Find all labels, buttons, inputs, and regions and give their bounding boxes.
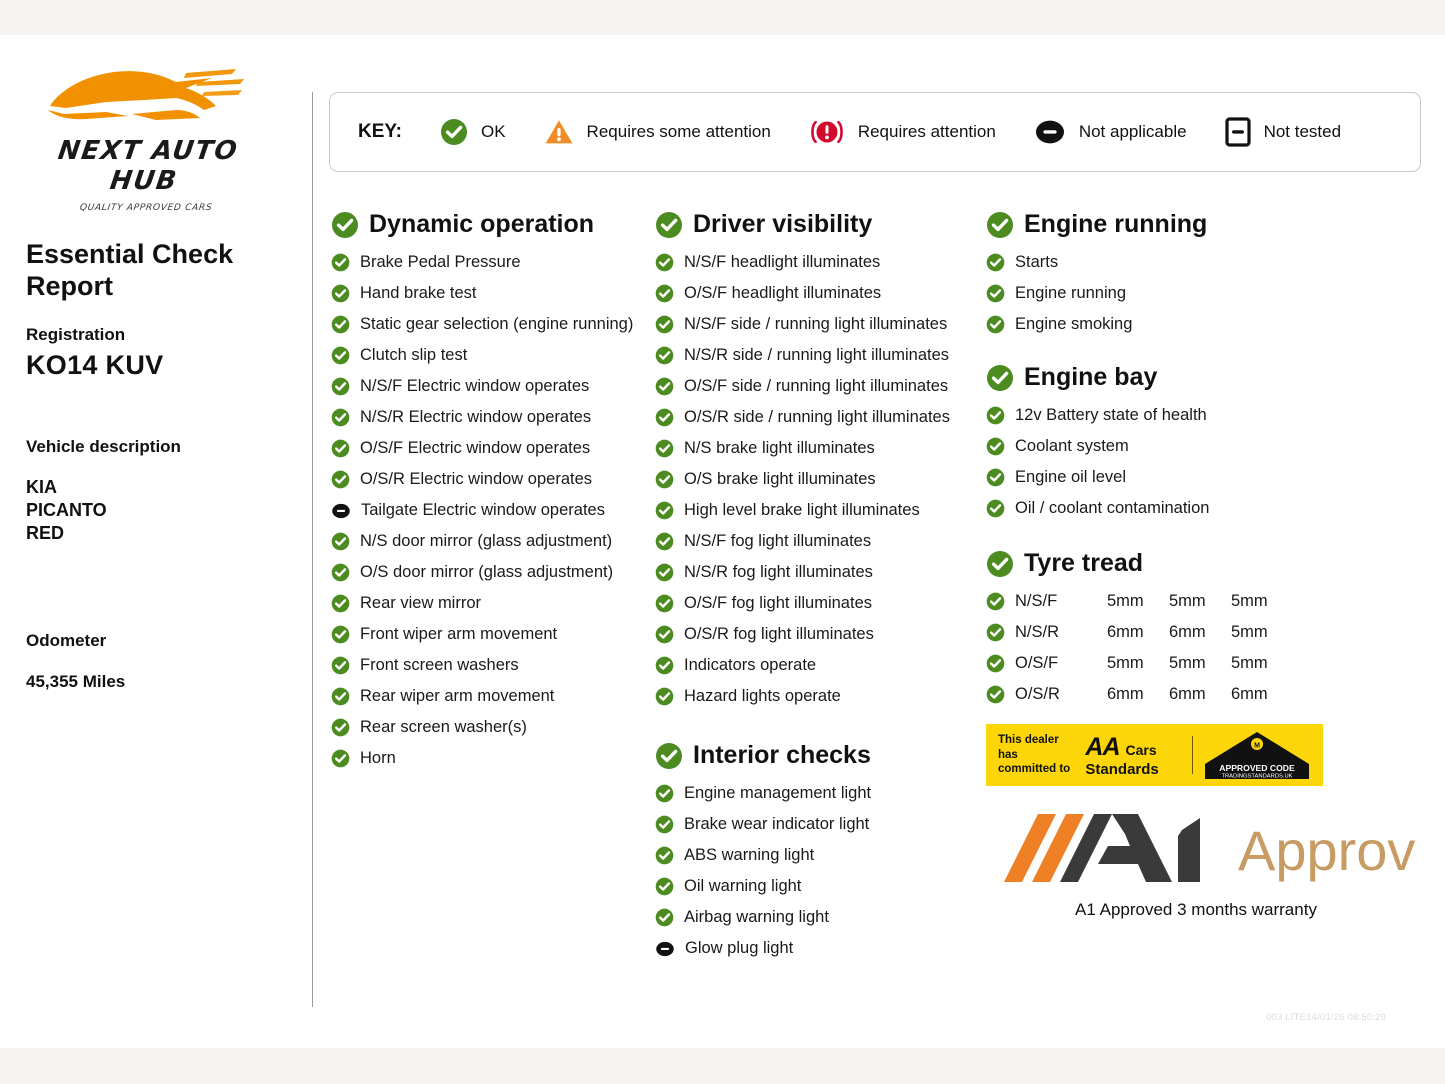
check-row: Indicators operate	[655, 650, 985, 681]
key-item-not-tested: Not tested	[1225, 117, 1342, 147]
dealer-logo: NEXT AUTO HUB QUALITY APPROVED CARS	[26, 60, 266, 213]
check-row: N/S/R side / running light illuminates	[655, 340, 985, 371]
check-row: N/S brake light illuminates	[655, 433, 985, 464]
check-row-label: Horn	[360, 749, 396, 768]
check-row: N/S/R fog light illuminates	[655, 557, 985, 588]
check-circle-icon	[655, 408, 674, 427]
check-row: Front wiper arm movement	[331, 619, 661, 650]
tyre-position: O/S/R	[1015, 685, 1107, 704]
check-row-label: Brake wear indicator light	[684, 815, 869, 834]
check-circle-icon	[655, 284, 674, 303]
check-row-label: N/S/F Electric window operates	[360, 377, 589, 396]
check-row: N/S/F side / running light illuminates	[655, 309, 985, 340]
section-title: Engine running	[1024, 210, 1207, 239]
section-header: Dynamic operation	[331, 210, 661, 239]
check-row-label: N/S/F side / running light illuminates	[684, 315, 947, 334]
check-row: N/S/R Electric window operates	[331, 402, 661, 433]
check-circle-icon	[986, 592, 1005, 611]
tyre-depth-value: 5mm	[1231, 592, 1293, 611]
check-row: Coolant system	[986, 431, 1426, 462]
section-dynamic-operation: Dynamic operation Brake Pedal PressureHa…	[331, 210, 661, 774]
a1-approved-block: Approved A1 Approved 3 months warranty	[986, 810, 1426, 920]
check-row-label: N/S brake light illuminates	[684, 439, 875, 458]
check-row: Clutch slip test	[331, 340, 661, 371]
check-row-label: 12v Battery state of health	[1015, 406, 1207, 425]
check-circle-icon	[986, 437, 1005, 456]
section-title: Driver visibility	[693, 210, 872, 239]
a1-approved-logo: Approved	[986, 810, 1416, 888]
key-label-attention: Requires attention	[858, 122, 996, 142]
check-row: Engine smoking	[986, 309, 1426, 340]
check-circle-icon	[655, 784, 674, 803]
aa-standards-word: Standards	[1085, 761, 1182, 778]
check-circle-icon	[331, 408, 350, 427]
check-row-label: N/S/F headlight illuminates	[684, 253, 880, 272]
check-row: Rear screen washer(s)	[331, 712, 661, 743]
section-header: Engine bay	[986, 363, 1426, 392]
key-label-some-attention: Requires some attention	[587, 122, 771, 142]
trading-standards-text: TRADINGSTANDARDS.UK	[1221, 773, 1292, 779]
check-row-label: Airbag warning light	[684, 908, 829, 927]
check-row-label: Clutch slip test	[360, 346, 467, 365]
tyre-row: O/S/R6mm6mm6mm	[986, 679, 1426, 710]
check-row: Engine oil level	[986, 462, 1426, 493]
check-circle-icon	[986, 284, 1005, 303]
tyre-row: O/S/F5mm5mm5mm	[986, 648, 1426, 679]
check-circle-icon	[331, 346, 350, 365]
check-row: O/S/F Electric window operates	[331, 433, 661, 464]
check-row-label: Front screen washers	[360, 656, 519, 675]
aa-cars-standards-badge: This dealer has committed to AA Cars Sta…	[986, 724, 1323, 786]
check-row: O/S brake light illuminates	[655, 464, 985, 495]
tyre-depth-value: 6mm	[1169, 685, 1231, 704]
check-row-label: O/S/R side / running light illuminates	[684, 408, 950, 427]
check-circle-icon	[655, 563, 674, 582]
aa-cars-standards-mark: AA Cars Standards	[1085, 733, 1182, 778]
check-circle-icon	[986, 550, 1014, 578]
check-row-label: N/S door mirror (glass adjustment)	[360, 532, 612, 551]
check-row: Hand brake test	[331, 278, 661, 309]
check-circle-icon	[655, 742, 683, 770]
check-row: O/S/R Electric window operates	[331, 464, 661, 495]
check-row-label: O/S/F side / running light illuminates	[684, 377, 948, 396]
check-circle-icon	[986, 406, 1005, 425]
check-row: N/S/F fog light illuminates	[655, 526, 985, 557]
registration-value: KO14 KUV	[26, 350, 288, 381]
check-circle-icon	[440, 118, 468, 146]
tyre-depth-value: 5mm	[1169, 654, 1231, 673]
dealer-name: NEXT AUTO HUB	[22, 136, 270, 196]
check-list: StartsEngine runningEngine smoking	[986, 247, 1426, 340]
check-row: Rear wiper arm movement	[331, 681, 661, 712]
aa-committed-text: This dealer has committed to	[998, 733, 1075, 777]
check-circle-icon	[331, 687, 350, 706]
check-row-label: Tailgate Electric window operates	[361, 501, 605, 520]
check-row-label: O/S/F fog light illuminates	[684, 594, 872, 613]
a1-warranty-text: A1 Approved 3 months warranty	[986, 900, 1406, 920]
page-top-band	[0, 0, 1445, 35]
svg-text:M: M	[1254, 743, 1260, 750]
check-circle-icon	[986, 253, 1005, 272]
check-circle-icon	[331, 625, 350, 644]
report-footer-code: 003 LITE14/01/26 08:50:29	[1266, 1012, 1386, 1023]
check-row: Hazard lights operate	[655, 681, 985, 712]
check-row: Airbag warning light	[655, 902, 985, 933]
dealer-tagline: QUALITY APPROVED CARS	[25, 203, 266, 213]
key-label-not-tested: Not tested	[1264, 122, 1342, 142]
tyre-depth-value: 5mm	[1107, 592, 1169, 611]
check-row: O/S door mirror (glass adjustment)	[331, 557, 661, 588]
section-title: Engine bay	[1024, 363, 1157, 392]
panel-divider	[312, 92, 313, 1007]
tyre-depth-value: 5mm	[1169, 592, 1231, 611]
section-header: Engine running	[986, 210, 1426, 239]
check-list: Brake Pedal PressureHand brake testStati…	[331, 247, 661, 774]
check-row-label: N/S/F fog light illuminates	[684, 532, 871, 551]
check-circle-icon	[655, 470, 674, 489]
check-circle-icon	[331, 656, 350, 675]
tyre-position: N/S/F	[1015, 592, 1107, 611]
aa-cars-word: Cars	[1126, 742, 1157, 758]
check-row-label: Engine management light	[684, 784, 871, 803]
check-circle-icon	[331, 594, 350, 613]
odometer-label: Odometer	[26, 631, 288, 651]
check-list: 12v Battery state of healthCoolant syste…	[986, 400, 1426, 524]
check-circle-icon	[986, 623, 1005, 642]
vehicle-details-panel: NEXT AUTO HUB QUALITY APPROVED CARS Esse…	[26, 60, 288, 697]
check-circle-icon	[986, 685, 1005, 704]
check-row: ABS warning light	[655, 840, 985, 871]
key-item-some-attention: Requires some attention	[544, 118, 771, 146]
column-driver-visibility: Driver visibility N/S/F headlight illumi…	[655, 210, 985, 964]
check-circle-icon	[655, 656, 674, 675]
check-row-label: Oil warning light	[684, 877, 801, 896]
check-row: Tailgate Electric window operates	[331, 495, 661, 526]
check-circle-icon	[655, 439, 674, 458]
a1-approved-word: Approved	[1238, 819, 1416, 882]
check-circle-icon	[655, 377, 674, 396]
tyre-row: N/S/F5mm5mm5mm	[986, 586, 1426, 617]
check-row-label: O/S/R fog light illuminates	[684, 625, 874, 644]
check-row-label: High level brake light illuminates	[684, 501, 920, 520]
tyre-tread-table: N/S/F5mm5mm5mmN/S/R6mm6mm5mmO/S/F5mm5mm5…	[986, 586, 1426, 710]
check-circle-icon	[331, 377, 350, 396]
check-row-label: Hand brake test	[360, 284, 476, 303]
column-engine-and-tyres: Engine running StartsEngine runningEngin…	[986, 210, 1426, 920]
check-row-label: Indicators operate	[684, 656, 816, 675]
check-circle-icon	[655, 532, 674, 551]
check-circle-icon	[986, 364, 1014, 392]
check-row-label: O/S/F headlight illuminates	[684, 284, 881, 303]
check-circle-icon	[986, 654, 1005, 673]
check-row-label: O/S door mirror (glass adjustment)	[360, 563, 613, 582]
check-circle-icon	[331, 211, 359, 239]
check-circle-icon	[655, 846, 674, 865]
section-driver-visibility: Driver visibility N/S/F headlight illumi…	[655, 210, 985, 712]
check-row-label: Rear screen washer(s)	[360, 718, 527, 737]
tyre-position: O/S/F	[1015, 654, 1107, 673]
check-row-label: N/S/R Electric window operates	[360, 408, 591, 427]
check-row-label: Engine running	[1015, 284, 1126, 303]
check-row-label: ABS warning light	[684, 846, 814, 865]
check-row: Oil warning light	[655, 871, 985, 902]
check-circle-icon	[655, 687, 674, 706]
check-circle-icon	[655, 625, 674, 644]
section-title: Dynamic operation	[369, 210, 594, 239]
check-row-label: Brake Pedal Pressure	[360, 253, 521, 272]
section-tyre-tread: Tyre tread N/S/F5mm5mm5mmN/S/R6mm6mm5mmO…	[986, 549, 1426, 710]
section-header: Interior checks	[655, 741, 985, 770]
check-row: Horn	[331, 743, 661, 774]
check-row: O/S/F fog light illuminates	[655, 588, 985, 619]
check-circle-icon	[655, 594, 674, 613]
check-row: Engine management light	[655, 778, 985, 809]
check-circle-icon	[331, 563, 350, 582]
check-row: Brake wear indicator light	[655, 809, 985, 840]
vehicle-description-label: Vehicle description	[26, 437, 288, 457]
check-row: N/S/F Electric window operates	[331, 371, 661, 402]
section-interior-checks: Interior checks Engine management lightB…	[655, 741, 985, 964]
section-title: Interior checks	[693, 741, 871, 770]
not-applicable-icon	[1034, 118, 1066, 146]
section-header: Tyre tread	[986, 549, 1426, 578]
check-circle-icon	[331, 532, 350, 551]
check-circle-icon	[331, 439, 350, 458]
not-applicable-icon	[655, 940, 675, 958]
check-row: Front screen washers	[331, 650, 661, 681]
tyre-depth-value: 6mm	[1231, 685, 1293, 704]
vehicle-colour: RED	[26, 522, 288, 545]
check-row: O/S/R side / running light illuminates	[655, 402, 985, 433]
check-row-label: Rear wiper arm movement	[360, 687, 554, 706]
check-row: O/S/F headlight illuminates	[655, 278, 985, 309]
tyre-depth-value: 6mm	[1107, 685, 1169, 704]
alert-circle-icon	[809, 117, 845, 147]
registration-label: Registration	[26, 325, 288, 345]
section-header: Driver visibility	[655, 210, 985, 239]
approved-code-chevron-icon: M APPROVED CODE TRADINGSTANDARDS.UK	[1203, 730, 1311, 780]
check-row-label: O/S/F Electric window operates	[360, 439, 590, 458]
check-row-label: Glow plug light	[685, 939, 793, 958]
section-engine-bay: Engine bay 12v Battery state of healthCo…	[986, 363, 1426, 524]
check-row-label: N/S/R fog light illuminates	[684, 563, 873, 582]
odometer-value: 45,355 Miles	[26, 672, 288, 692]
approved-code-mark: M APPROVED CODE TRADINGSTANDARDS.UK	[1203, 730, 1311, 780]
check-circle-icon	[331, 253, 350, 272]
key-item-attention: Requires attention	[809, 117, 996, 147]
check-circle-icon	[655, 211, 683, 239]
check-circle-icon	[986, 499, 1005, 518]
tyre-depth-value: 5mm	[1231, 654, 1293, 673]
check-row: Rear view mirror	[331, 588, 661, 619]
check-circle-icon	[655, 315, 674, 334]
check-circle-icon	[655, 253, 674, 272]
check-row-label: Engine smoking	[1015, 315, 1132, 334]
check-circle-icon	[986, 211, 1014, 239]
check-row: 12v Battery state of health	[986, 400, 1426, 431]
key-item-not-applicable: Not applicable	[1034, 118, 1187, 146]
check-row-label: Engine oil level	[1015, 468, 1126, 487]
aa-committed-line1: This dealer has	[998, 733, 1075, 762]
check-circle-icon	[986, 315, 1005, 334]
column-dynamic-operation: Dynamic operation Brake Pedal PressureHa…	[331, 210, 661, 774]
check-row: N/S/F headlight illuminates	[655, 247, 985, 278]
check-row-label: Starts	[1015, 253, 1058, 272]
key-title: KEY:	[358, 121, 402, 143]
check-row: Starts	[986, 247, 1426, 278]
check-row: Oil / coolant contamination	[986, 493, 1426, 524]
tyre-depth-value: 5mm	[1231, 623, 1293, 642]
aa-committed-line2: committed to	[998, 762, 1075, 777]
tyre-row: N/S/R6mm6mm5mm	[986, 617, 1426, 648]
check-circle-icon	[655, 346, 674, 365]
page-title: Essential Check Report	[26, 239, 288, 303]
not-tested-icon	[1225, 117, 1251, 147]
tyre-position: N/S/R	[1015, 623, 1107, 642]
check-row: Static gear selection (engine running)	[331, 309, 661, 340]
check-circle-icon	[331, 749, 350, 768]
check-row: N/S door mirror (glass adjustment)	[331, 526, 661, 557]
check-row-label: Oil / coolant contamination	[1015, 499, 1209, 518]
vehicle-make: KIA	[26, 476, 288, 499]
check-row: Engine running	[986, 278, 1426, 309]
check-row-label: Rear view mirror	[360, 594, 481, 613]
page-bottom-band	[0, 1048, 1445, 1084]
check-row-label: Hazard lights operate	[684, 687, 841, 706]
check-list: N/S/F headlight illuminatesO/S/F headlig…	[655, 247, 985, 712]
section-engine-running: Engine running StartsEngine runningEngin…	[986, 210, 1426, 340]
tyre-depth-value: 6mm	[1169, 623, 1231, 642]
tyre-depth-value: 6mm	[1107, 623, 1169, 642]
key-label-ok: OK	[481, 122, 506, 142]
approved-code-text: APPROVED CODE	[1219, 763, 1295, 773]
key-item-ok: OK	[440, 118, 506, 146]
tyre-depth-value: 5mm	[1107, 654, 1169, 673]
check-row-label: Front wiper arm movement	[360, 625, 557, 644]
check-circle-icon	[655, 877, 674, 896]
check-row: High level brake light illuminates	[655, 495, 985, 526]
check-list: Engine management lightBrake wear indica…	[655, 778, 985, 964]
check-circle-icon	[331, 470, 350, 489]
check-circle-icon	[331, 718, 350, 737]
check-circle-icon	[331, 315, 350, 334]
not-applicable-icon	[331, 502, 351, 520]
section-title: Tyre tread	[1024, 549, 1143, 578]
check-row: O/S/F side / running light illuminates	[655, 371, 985, 402]
check-row-label: Static gear selection (engine running)	[360, 315, 633, 334]
aa-separator	[1192, 736, 1193, 774]
vehicle-model: PICANTO	[26, 499, 288, 522]
check-row: Brake Pedal Pressure	[331, 247, 661, 278]
check-circle-icon	[986, 468, 1005, 487]
check-circle-icon	[655, 908, 674, 927]
car-logo-icon	[36, 60, 251, 132]
check-circle-icon	[655, 815, 674, 834]
aa-mark: AA	[1085, 733, 1119, 762]
check-circle-icon	[331, 284, 350, 303]
check-row-label: Coolant system	[1015, 437, 1129, 456]
status-key-legend: KEY: OK Requires some attention	[329, 92, 1421, 172]
warning-triangle-icon	[544, 118, 574, 146]
essential-check-report-page: NEXT AUTO HUB QUALITY APPROVED CARS Esse…	[0, 0, 1445, 1084]
check-row-label: O/S brake light illuminates	[684, 470, 876, 489]
check-row-label: N/S/R side / running light illuminates	[684, 346, 949, 365]
check-row-label: O/S/R Electric window operates	[360, 470, 592, 489]
check-row: O/S/R fog light illuminates	[655, 619, 985, 650]
key-label-not-applicable: Not applicable	[1079, 122, 1187, 142]
check-circle-icon	[655, 501, 674, 520]
check-row: Glow plug light	[655, 933, 985, 964]
